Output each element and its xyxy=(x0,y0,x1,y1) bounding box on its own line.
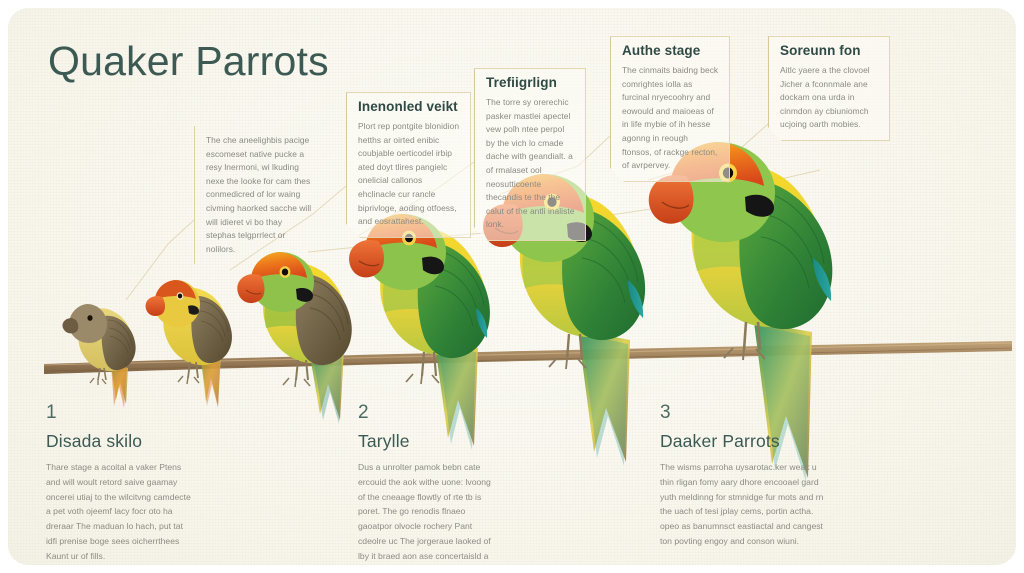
bird-stage-2 xyxy=(146,280,232,408)
section-block-2: 2 Tarylle Dus a unrolter pamok bebn cate… xyxy=(358,403,498,565)
callout-box-2[interactable]: Inenonled veikt Plort rep pontgite bloni… xyxy=(346,92,471,238)
callout-body-4: The cinmaits baidng beck comrightes ioll… xyxy=(622,64,719,173)
callout-body-1: The che aneelighbis pacige escomeset nat… xyxy=(206,134,312,256)
infographic-poster: Quaker Parrots xyxy=(0,0,1024,573)
section-number-3: 3 xyxy=(660,403,825,422)
callout-box-4[interactable]: Authe stage The cinmaits baidng beck com… xyxy=(610,36,730,182)
bird-stage-1 xyxy=(62,304,135,408)
callout-box-3[interactable]: Trefiigrlign The torre sy orerechic pask… xyxy=(474,68,586,241)
section-heading-2: Tarylle xyxy=(358,431,498,452)
callout-body-5: Aitlc yaere a the clovoel Jicher a fconn… xyxy=(780,64,879,132)
section-body-2: Dus a unrolter pamok bebn cate ercouid t… xyxy=(358,460,498,565)
callout-box-1[interactable]: The che aneelighbis pacige escomeset nat… xyxy=(194,126,322,264)
callout-body-2: Plort rep pontgite blonidion hetths ar o… xyxy=(358,120,460,229)
section-block-3: 3 Daaker Parrots The wisms parroha uysar… xyxy=(660,403,825,549)
callout-heading-5: Soreunn fon xyxy=(780,43,879,58)
section-block-1: 1 Disada skilo Thare stage a acoital a v… xyxy=(46,403,194,563)
section-heading-1: Disada skilo xyxy=(46,431,194,452)
bird-stage-3 xyxy=(237,252,351,424)
callout-body-3: The torre sy orerechic pasker mastlei ap… xyxy=(486,96,575,232)
section-heading-3: Daaker Parrots xyxy=(660,431,825,452)
callout-box-5[interactable]: Soreunn fon Aitlc yaere a the clovoel Ji… xyxy=(768,36,890,141)
section-number-1: 1 xyxy=(46,403,194,422)
poster-canvas: Quaker Parrots xyxy=(8,8,1016,565)
section-number-2: 2 xyxy=(358,403,498,422)
callout-heading-4: Authe stage xyxy=(622,43,719,58)
section-body-3: The wisms parroha uysarotac.ker weak u t… xyxy=(660,460,825,549)
section-body-1: Thare stage a acoital a vaker Ptens and … xyxy=(46,460,194,563)
callout-heading-3: Trefiigrlign xyxy=(486,75,575,90)
callout-heading-2: Inenonled veikt xyxy=(358,99,460,114)
